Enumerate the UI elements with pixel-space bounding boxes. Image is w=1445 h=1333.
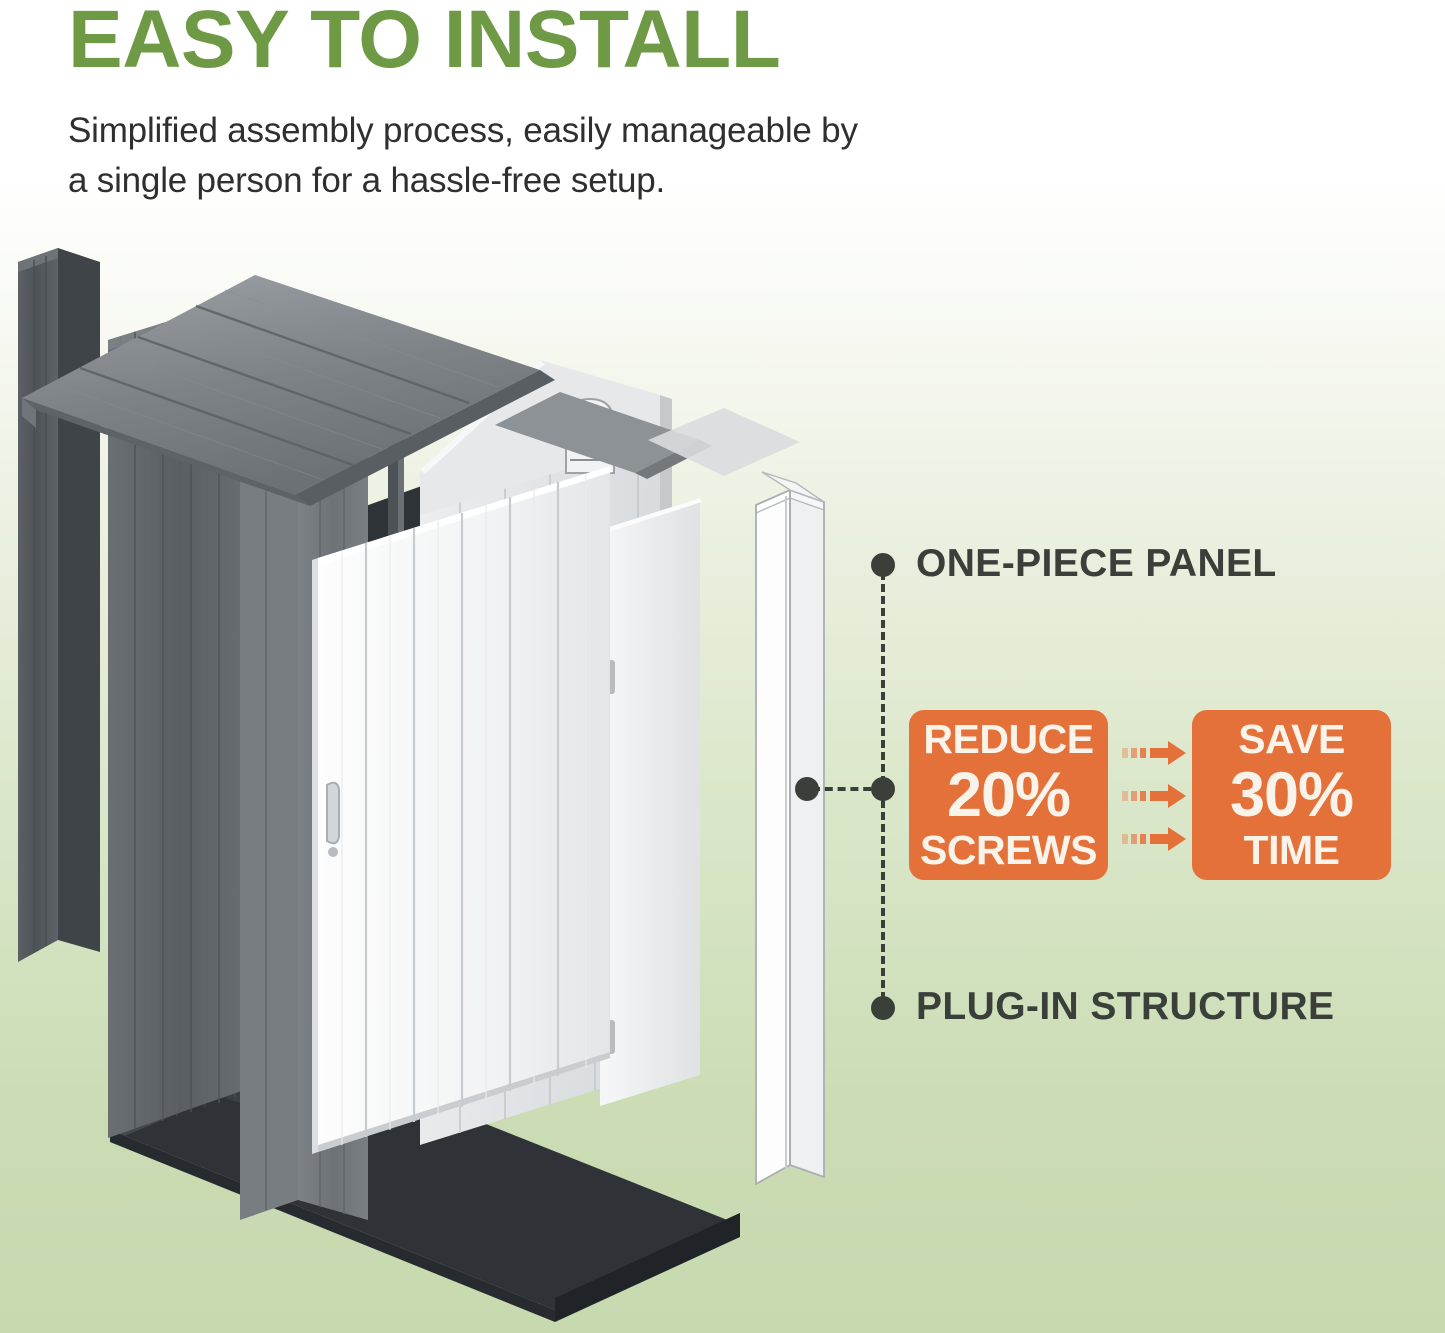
badge-reduce-value: 20% [947, 762, 1070, 828]
header-block: EASY TO INSTALL Simplified assembly proc… [68, 0, 1028, 206]
callout-one-piece-panel: ONE-PIECE PANEL [916, 542, 1277, 586]
subtitle-line-1: Simplified assembly process, easily mana… [68, 106, 1028, 156]
page-title: EASY TO INSTALL [68, 0, 1028, 80]
shed-diagram-svg [0, 240, 880, 1333]
arrow-group [1122, 740, 1188, 852]
badge-save-value: 30% [1230, 762, 1353, 828]
exploded-shed-illustration [0, 240, 880, 1333]
badge-reduce-screws: REDUCE 20% SCREWS [909, 710, 1108, 880]
side-wall-panel-1 [18, 248, 100, 962]
badge-save-time: SAVE 30% TIME [1192, 710, 1391, 880]
inner-door-panel [600, 498, 702, 1106]
connector-dot-top [871, 553, 895, 577]
callout-plug-in-structure: PLUG-IN STRUCTURE [916, 985, 1334, 1029]
subtitle-line-2: a single person for a hassle-free setup. [68, 156, 1028, 206]
arrow-right-icon-1 [1122, 740, 1188, 766]
badge-save-top: SAVE [1238, 717, 1345, 762]
badge-reduce-top: REDUCE [923, 717, 1093, 762]
connector-dot-panel-anchor [795, 777, 819, 801]
connector-dot-junction [871, 777, 895, 801]
badge-reduce-bottom: SCREWS [920, 828, 1097, 873]
arrow-right-icon-3 [1122, 826, 1188, 852]
connector-dot-bottom [871, 996, 895, 1020]
one-piece-corner-panel [756, 490, 824, 1184]
subtitle-block: Simplified assembly process, easily mana… [68, 106, 1028, 206]
badge-save-bottom: TIME [1244, 828, 1340, 873]
arrow-right-icon-2 [1122, 783, 1188, 809]
infographic-canvas: EASY TO INSTALL Simplified assembly proc… [0, 0, 1445, 1333]
